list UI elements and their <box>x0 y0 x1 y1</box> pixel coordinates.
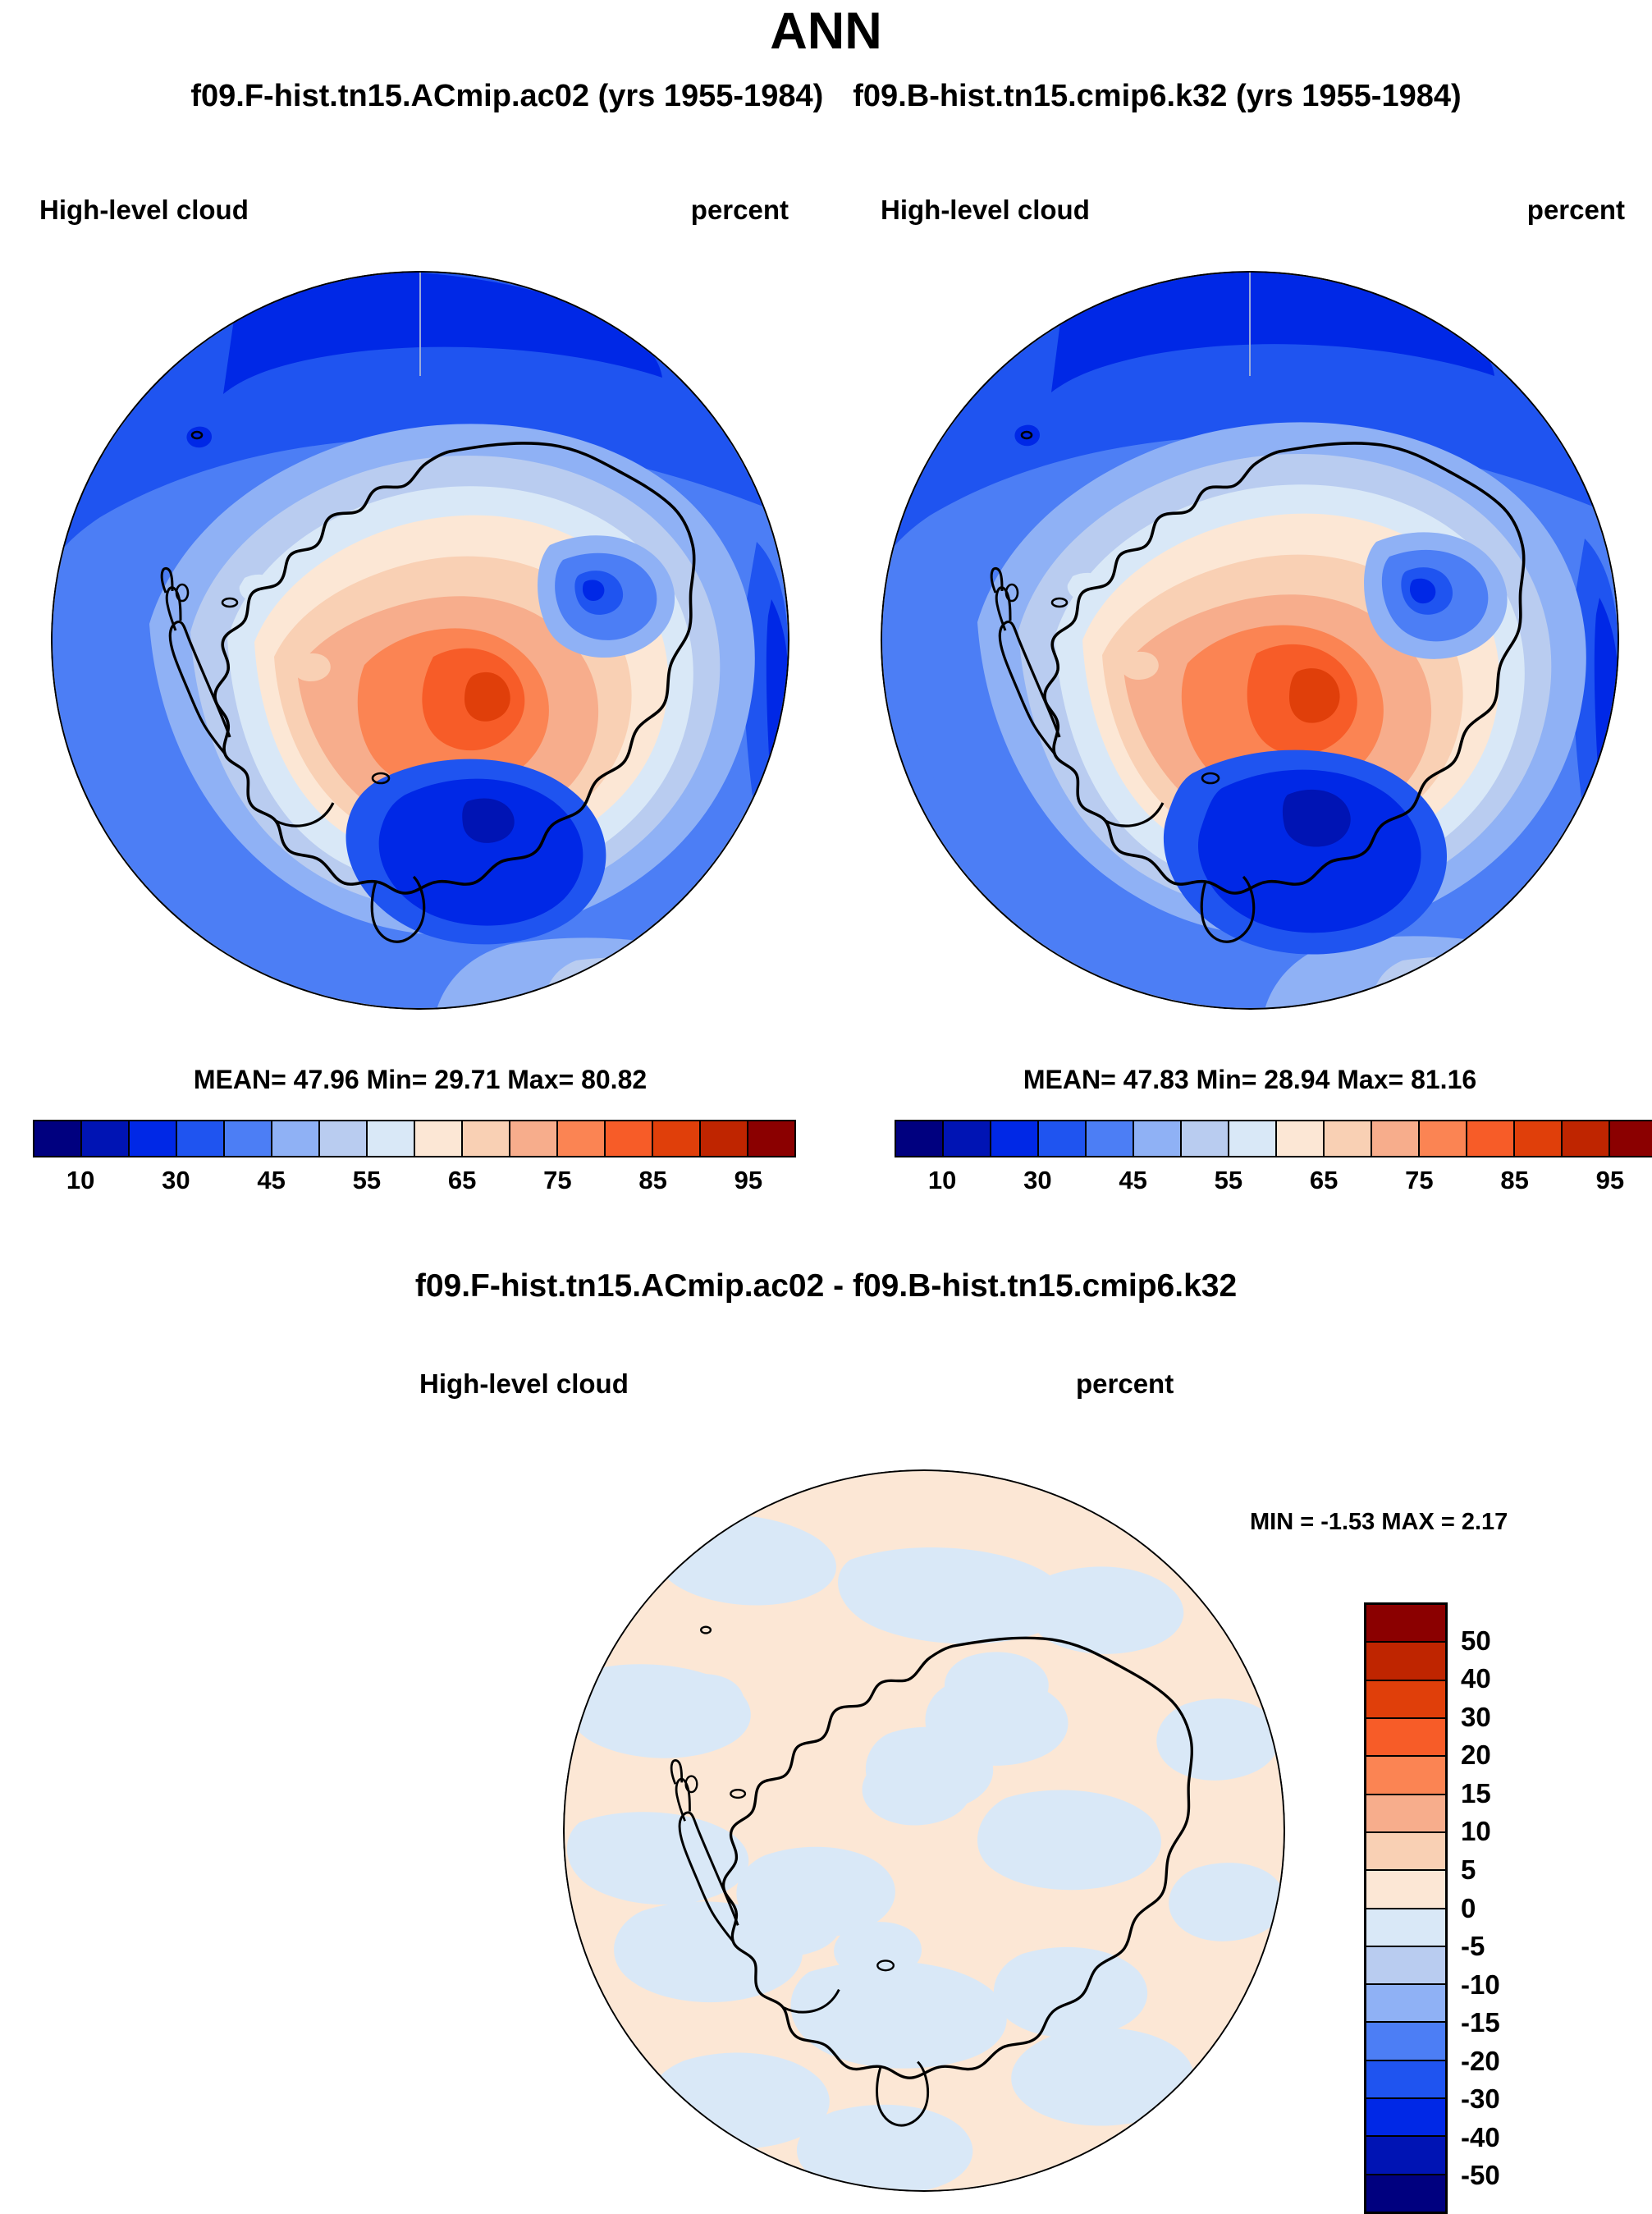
colorbar-tick-label: 75 <box>1405 1166 1433 1195</box>
colorbar-cell <box>1366 1795 1445 1833</box>
colorbar-cell <box>130 1121 177 1156</box>
colorbar-tick-label: 10 <box>1461 1816 1491 1847</box>
colorbar-cell <box>653 1121 701 1156</box>
right-unit-label: percent <box>1527 195 1625 226</box>
colorbar-cell <box>1325 1121 1372 1156</box>
colorbar-cell <box>177 1121 225 1156</box>
diff-field-label: High-level cloud <box>419 1368 629 1400</box>
colorbar-cell <box>368 1121 415 1156</box>
left-colorbar <box>33 1120 796 1157</box>
colorbar-cell <box>1277 1121 1325 1156</box>
colorbar-tick-label: -15 <box>1461 2007 1500 2038</box>
colorbar-tick-label: 65 <box>1310 1166 1338 1195</box>
colorbar-tick-label: 10 <box>66 1166 94 1195</box>
colorbar-cell <box>1366 2137 1445 2175</box>
colorbar-cell <box>1182 1121 1229 1156</box>
map-right-panel <box>881 271 1619 1010</box>
colorbar-cell <box>1366 2061 1445 2099</box>
colorbar-tick-label: 55 <box>353 1166 381 1195</box>
right-stats: MEAN= 47.83 Min= 28.94 Max= 81.16 <box>881 1065 1619 1095</box>
colorbar-tick-label: 85 <box>1500 1166 1528 1195</box>
colorbar-cell <box>701 1121 748 1156</box>
map-left-contours <box>51 271 789 1010</box>
colorbar-tick-label: 65 <box>448 1166 476 1195</box>
colorbar-cell <box>1366 2175 1445 2212</box>
diff-panel-header: High-level cloud percent <box>0 1368 1652 1405</box>
map-left-panel <box>51 271 789 1010</box>
colorbar-tick-label: 30 <box>162 1166 190 1195</box>
case-a-label: f09.F-hist.tn15.ACmip.ac02 (yrs 1955-198… <box>190 79 823 113</box>
case-names-line: f09.F-hist.tn15.ACmip.ac02 (yrs 1955-198… <box>0 79 1652 114</box>
colorbar-cell <box>1366 1643 1445 1680</box>
colorbar-cell <box>415 1121 463 1156</box>
colorbar-tick-label: -10 <box>1461 1969 1500 2001</box>
diff-minmax-label: MIN = -1.53 MAX = 2.17 <box>1250 1509 1508 1536</box>
colorbar-tick-label: 20 <box>1461 1740 1491 1771</box>
colorbar-cell <box>1366 1909 1445 1947</box>
colorbar-cell <box>944 1121 991 1156</box>
colorbar-tick-label: -40 <box>1461 2122 1500 2153</box>
left-stats: MEAN= 47.96 Min= 29.71 Max= 80.82 <box>51 1065 789 1095</box>
colorbar-cell <box>510 1121 558 1156</box>
colorbar-tick-label: 5 <box>1461 1854 1476 1886</box>
colorbar-cell <box>272 1121 320 1156</box>
left-field-label: High-level cloud <box>39 195 249 226</box>
colorbar-cell <box>82 1121 130 1156</box>
colorbar-cell <box>320 1121 368 1156</box>
colorbar-cell <box>34 1121 82 1156</box>
colorbar-tick-label: 95 <box>1596 1166 1624 1195</box>
colorbar-cell <box>1039 1121 1087 1156</box>
colorbar-cell <box>1372 1121 1420 1156</box>
colorbar-cell <box>1366 1681 1445 1719</box>
colorbar-tick-label: 55 <box>1215 1166 1242 1195</box>
colorbar-tick-label: -20 <box>1461 2046 1500 2077</box>
colorbar-cell <box>1366 1985 1445 2023</box>
right-colorbar <box>895 1120 1652 1157</box>
colorbar-cell <box>1366 2099 1445 2137</box>
colorbar-cell <box>1087 1121 1134 1156</box>
colorbar-cell <box>1563 1121 1610 1156</box>
diff-unit-label: percent <box>1076 1368 1174 1400</box>
diff-panel-title: f09.F-hist.tn15.ACmip.ac02 - f09.B-hist.… <box>0 1268 1652 1304</box>
colorbar-cell <box>1366 1833 1445 1871</box>
colorbar-cell <box>1134 1121 1182 1156</box>
colorbar-cell <box>606 1121 653 1156</box>
colorbar-tick-label: -50 <box>1461 2160 1500 2191</box>
colorbar-cell <box>463 1121 510 1156</box>
colorbar-cell <box>1515 1121 1563 1156</box>
colorbar-tick-label: 95 <box>734 1166 762 1195</box>
page-title: ANN <box>0 2 1652 61</box>
colorbar-cell <box>225 1121 272 1156</box>
colorbar-cell <box>748 1121 794 1156</box>
colorbar-tick-label: 10 <box>928 1166 956 1195</box>
map-right-contours <box>881 271 1619 1010</box>
colorbar-tick-label: 40 <box>1461 1663 1491 1694</box>
colorbar-cell <box>1366 1757 1445 1795</box>
colorbar-tick-label: 50 <box>1461 1625 1491 1657</box>
colorbar-cell <box>1366 1719 1445 1757</box>
colorbar-tick-label: 45 <box>257 1166 285 1195</box>
colorbar-cell <box>991 1121 1039 1156</box>
colorbar-cell <box>1610 1121 1652 1156</box>
left-colorbar-labels: 1030455565758595 <box>33 1166 796 1202</box>
colorbar-tick-label: 30 <box>1461 1702 1491 1733</box>
case-b-label: f09.B-hist.tn15.cmip6.k32 (yrs 1955-1984… <box>853 79 1461 113</box>
colorbar-cell <box>1366 1871 1445 1909</box>
colorbar-tick-label: 75 <box>543 1166 571 1195</box>
colorbar-tick-label: 85 <box>638 1166 666 1195</box>
colorbar-cell <box>1467 1121 1515 1156</box>
right-field-label: High-level cloud <box>881 195 1090 226</box>
colorbar-cell <box>896 1121 944 1156</box>
left-panel-header: High-level cloud percent <box>0 195 826 231</box>
colorbar-tick-label: 30 <box>1023 1166 1051 1195</box>
diff-colorbar-labels: 50403020151050-5-10-15-20-30-40-50 <box>1461 1602 1584 2214</box>
right-colorbar-labels: 1030455565758595 <box>895 1166 1652 1202</box>
colorbar-tick-label: 45 <box>1119 1166 1146 1195</box>
colorbar-tick-label: -30 <box>1461 2083 1500 2115</box>
colorbar-cell <box>1366 1605 1445 1643</box>
colorbar-cell <box>1229 1121 1277 1156</box>
colorbar-cell <box>1366 1947 1445 1985</box>
colorbar-tick-label: 15 <box>1461 1778 1491 1809</box>
colorbar-tick-label: -5 <box>1461 1931 1485 1962</box>
diff-colorbar <box>1364 1602 1448 2214</box>
right-panel-header: High-level cloud percent <box>826 195 1652 231</box>
colorbar-cell <box>1366 2023 1445 2060</box>
left-unit-label: percent <box>691 195 789 226</box>
colorbar-cell <box>1420 1121 1467 1156</box>
colorbar-cell <box>558 1121 606 1156</box>
map-diff-contours <box>563 1469 1285 2192</box>
colorbar-tick-label: 0 <box>1461 1893 1476 1924</box>
map-diff-panel <box>563 1469 1285 2192</box>
